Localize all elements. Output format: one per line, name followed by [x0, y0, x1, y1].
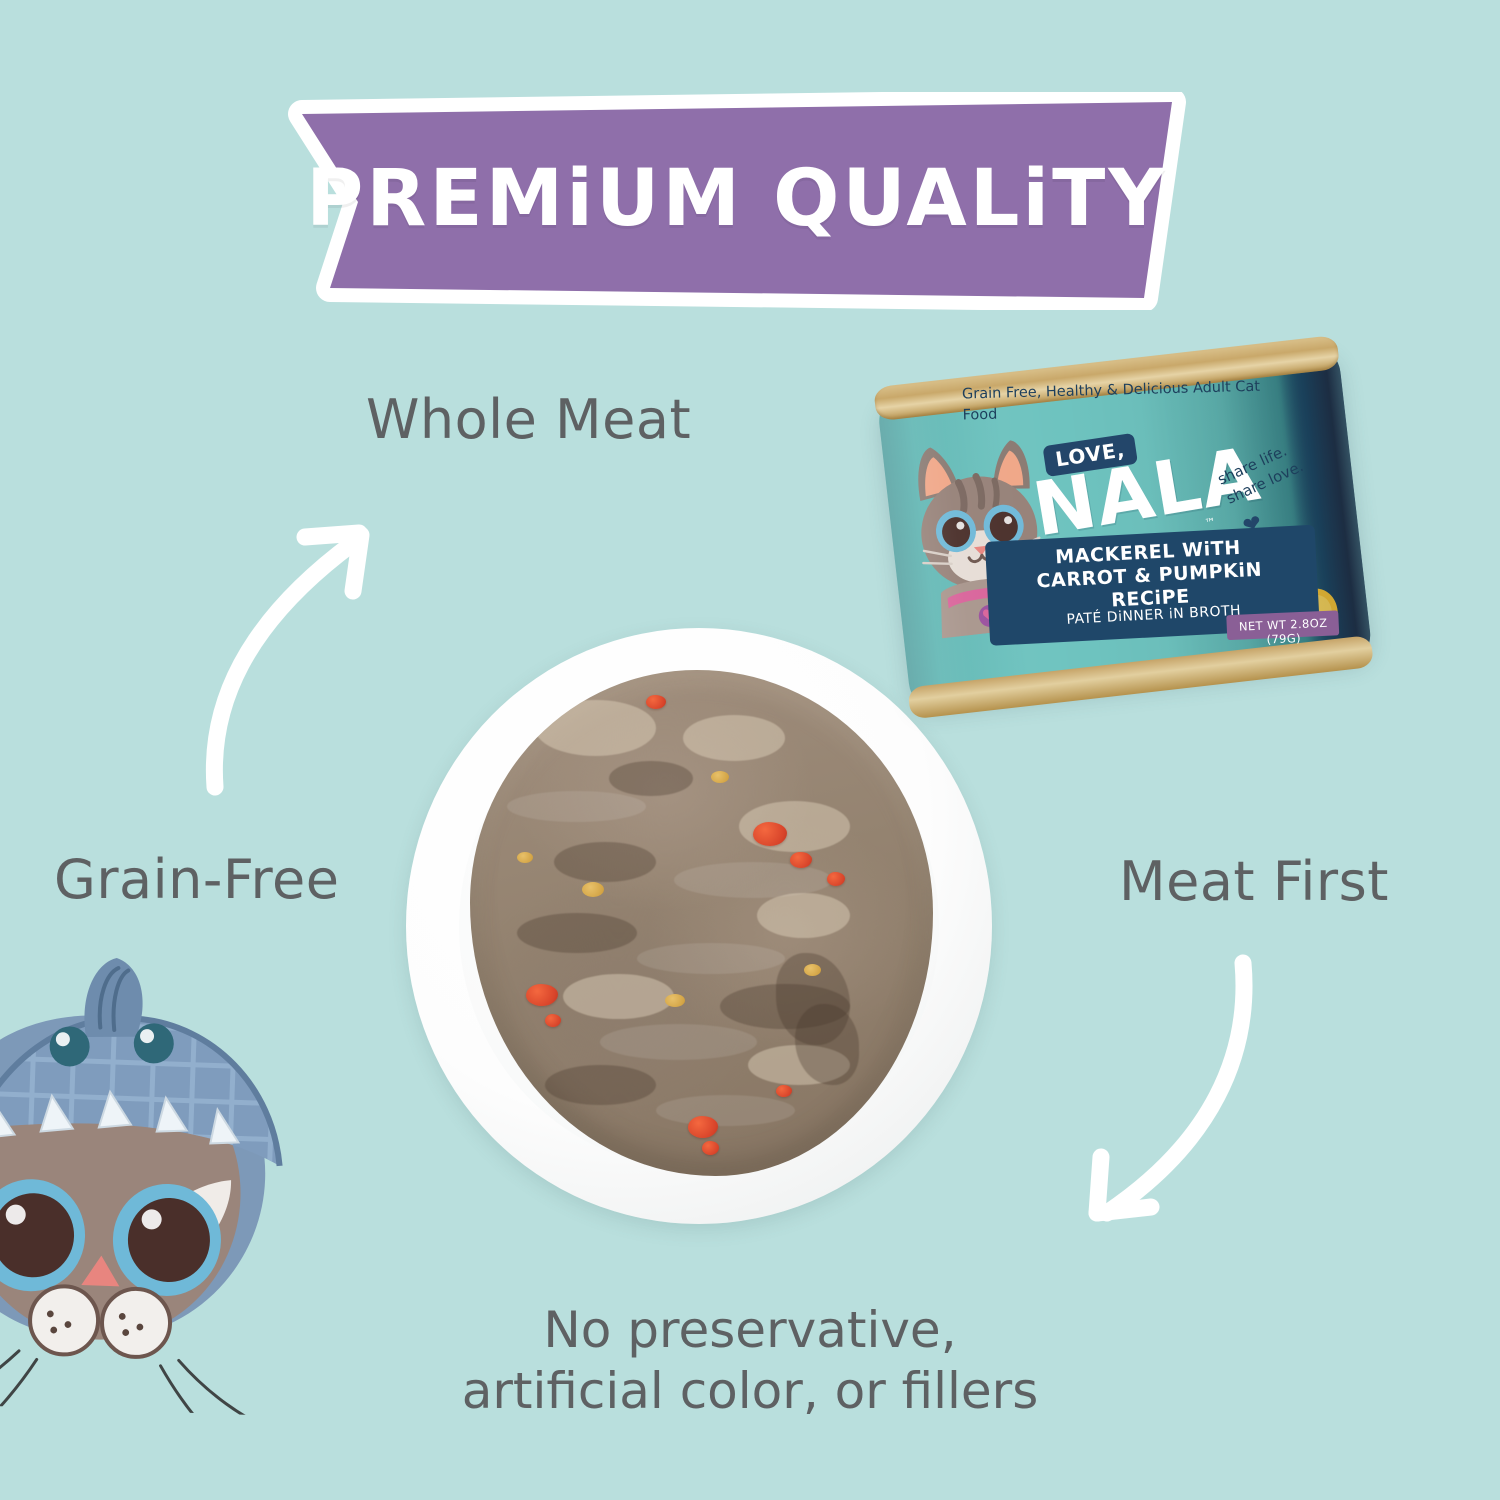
infographic-canvas: PREMiUM QUALiTY Whole Meat Grain-Free Me… [0, 0, 1500, 1500]
banner-title: PREMiUM QUALiTY [272, 92, 1202, 310]
nala-cat-mascot [0, 943, 335, 1418]
feature-label-grain-free: Grain-Free [54, 848, 339, 911]
curved-arrow-up-right-icon [175, 495, 425, 805]
can-logo-trademark: ™ [1204, 515, 1217, 530]
curved-arrow-down-left-icon [1055, 945, 1305, 1255]
can-tagline: Grain Free, Healthy & Delicious Adult Ca… [962, 377, 1263, 426]
can-netweight-text: NET WT 2.8OZ (79G) [1227, 615, 1340, 648]
feature-label-meat-first: Meat First [1119, 850, 1389, 913]
product-can: Grain Free, Healthy & Delicious Adult Ca… [867, 332, 1383, 729]
premium-quality-banner: PREMiUM QUALiTY [272, 92, 1202, 310]
feature-label-whole-meat: Whole Meat [366, 388, 691, 451]
